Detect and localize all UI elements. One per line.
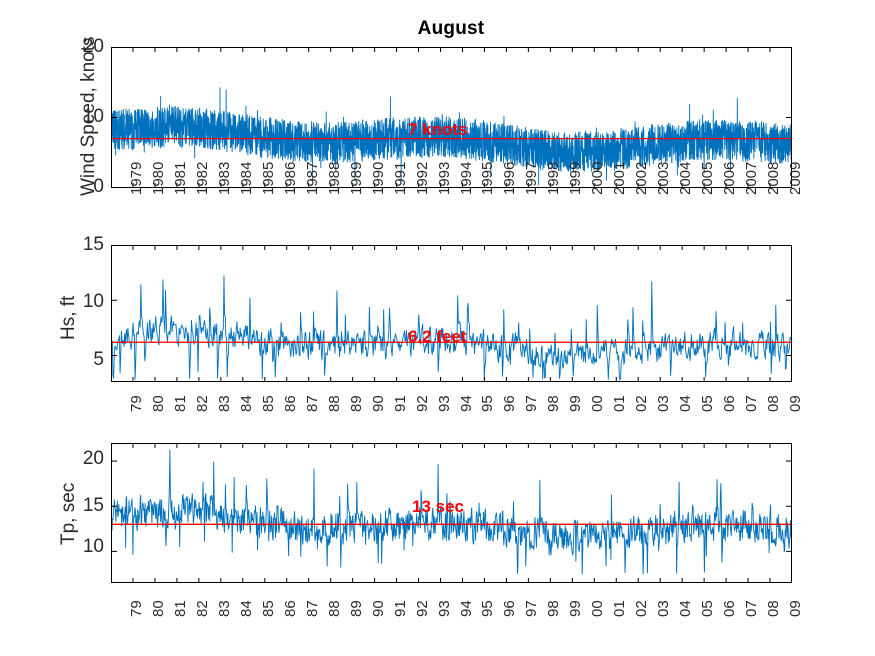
xtick-wind-1999: 1999 bbox=[567, 162, 584, 195]
ytick-tp-20: 20 bbox=[55, 448, 104, 470]
xtick-tp-03: 03 bbox=[655, 600, 672, 617]
xtick-hs-92: 92 bbox=[414, 395, 431, 412]
xtick-hs-02: 02 bbox=[633, 395, 650, 412]
xtick-hs-99: 99 bbox=[567, 395, 584, 412]
xtick-tp-00: 00 bbox=[589, 600, 606, 617]
xtick-hs-81: 81 bbox=[172, 395, 189, 412]
xtick-hs-91: 91 bbox=[392, 395, 409, 412]
xtick-tp-04: 04 bbox=[677, 600, 694, 617]
xtick-tp-06: 06 bbox=[721, 600, 738, 617]
xtick-wind-1989: 1989 bbox=[348, 162, 365, 195]
xtick-hs-94: 94 bbox=[458, 395, 475, 412]
xtick-hs-79: 79 bbox=[128, 395, 145, 412]
xtick-tp-08: 08 bbox=[765, 600, 782, 617]
xtick-wind-1981: 1981 bbox=[172, 162, 189, 195]
xtick-tp-88: 88 bbox=[326, 600, 343, 617]
annotation-wind-mean: 7 knots bbox=[408, 120, 468, 140]
xtick-tp-97: 97 bbox=[523, 600, 540, 617]
xtick-wind-1993: 1993 bbox=[436, 162, 453, 195]
xtick-tp-80: 80 bbox=[150, 600, 167, 617]
xtick-tp-84: 84 bbox=[238, 600, 255, 617]
xtick-hs-80: 80 bbox=[150, 395, 167, 412]
xtick-tp-83: 83 bbox=[216, 600, 233, 617]
ytick-tp-15: 15 bbox=[55, 495, 104, 517]
xtick-wind-1982: 1982 bbox=[194, 162, 211, 195]
chart-panel-hs[interactable] bbox=[111, 245, 792, 382]
xtick-wind-1984: 1984 bbox=[238, 162, 255, 195]
xtick-wind-2002: 2002 bbox=[633, 162, 650, 195]
xtick-tp-09: 09 bbox=[787, 600, 804, 617]
xtick-wind-1987: 1987 bbox=[304, 162, 321, 195]
xtick-wind-2005: 2005 bbox=[699, 162, 716, 195]
xtick-wind-1995: 1995 bbox=[479, 162, 496, 195]
xtick-hs-85: 85 bbox=[260, 395, 277, 412]
xtick-wind-1991: 1991 bbox=[392, 162, 409, 195]
xtick-wind-2006: 2006 bbox=[721, 162, 738, 195]
annotation-hs-mean: 6.2 feet bbox=[408, 327, 467, 347]
xtick-hs-82: 82 bbox=[194, 395, 211, 412]
xtick-wind-1980: 1980 bbox=[150, 162, 167, 195]
annotation-tp-mean: 13 sec bbox=[412, 497, 464, 517]
xtick-tp-89: 89 bbox=[348, 600, 365, 617]
xtick-wind-1986: 1986 bbox=[282, 162, 299, 195]
xtick-tp-93: 93 bbox=[436, 600, 453, 617]
xtick-tp-85: 85 bbox=[260, 600, 277, 617]
xtick-wind-1997: 1997 bbox=[523, 162, 540, 195]
ytick-wind-0: 0 bbox=[60, 176, 104, 198]
hs-plot-area bbox=[111, 245, 792, 382]
xtick-hs-06: 06 bbox=[721, 395, 738, 412]
xtick-hs-09: 09 bbox=[787, 395, 804, 412]
xtick-hs-89: 89 bbox=[348, 395, 365, 412]
xtick-hs-05: 05 bbox=[699, 395, 716, 412]
xtick-wind-2001: 2001 bbox=[611, 162, 628, 195]
xtick-hs-87: 87 bbox=[304, 395, 321, 412]
xtick-hs-03: 03 bbox=[655, 395, 672, 412]
xtick-hs-84: 84 bbox=[238, 395, 255, 412]
xtick-tp-94: 94 bbox=[458, 600, 475, 617]
xtick-tp-79: 79 bbox=[128, 600, 145, 617]
xtick-tp-96: 96 bbox=[501, 600, 518, 617]
xtick-hs-83: 83 bbox=[216, 395, 233, 412]
xtick-hs-04: 04 bbox=[677, 395, 694, 412]
xtick-tp-99: 99 bbox=[567, 600, 584, 617]
ytick-hs-5: 5 bbox=[60, 349, 104, 371]
ytick-wind-10: 10 bbox=[60, 106, 104, 128]
xtick-wind-1996: 1996 bbox=[501, 162, 518, 195]
xtick-hs-97: 97 bbox=[523, 395, 540, 412]
xtick-wind-1988: 1988 bbox=[326, 162, 343, 195]
xtick-tp-86: 86 bbox=[282, 600, 299, 617]
xtick-wind-2007: 2007 bbox=[743, 162, 760, 195]
ytick-wind-20: 20 bbox=[60, 36, 104, 58]
xtick-tp-95: 95 bbox=[479, 600, 496, 617]
xtick-hs-88: 88 bbox=[326, 395, 343, 412]
xtick-tp-05: 05 bbox=[699, 600, 716, 617]
xtick-tp-02: 02 bbox=[633, 600, 650, 617]
xtick-wind-2003: 2003 bbox=[655, 162, 672, 195]
xtick-wind-1998: 1998 bbox=[545, 162, 562, 195]
xtick-tp-07: 07 bbox=[743, 600, 760, 617]
xtick-hs-00: 00 bbox=[589, 395, 606, 412]
xtick-hs-07: 07 bbox=[743, 395, 760, 412]
xtick-hs-98: 98 bbox=[545, 395, 562, 412]
ytick-hs-10: 10 bbox=[60, 291, 104, 313]
xtick-hs-96: 96 bbox=[501, 395, 518, 412]
xtick-wind-1983: 1983 bbox=[216, 162, 233, 195]
xtick-tp-92: 92 bbox=[414, 600, 431, 617]
xtick-hs-86: 86 bbox=[282, 395, 299, 412]
xtick-wind-1992: 1992 bbox=[414, 162, 431, 195]
xtick-wind-1985: 1985 bbox=[260, 162, 277, 195]
xtick-wind-2008: 2008 bbox=[765, 162, 782, 195]
xtick-wind-1994: 1994 bbox=[458, 162, 475, 195]
page-title: August bbox=[110, 18, 792, 40]
xtick-tp-01: 01 bbox=[611, 600, 628, 617]
xtick-hs-90: 90 bbox=[370, 395, 387, 412]
xtick-wind-2009: 2009 bbox=[787, 162, 804, 195]
xtick-wind-2000: 2000 bbox=[589, 162, 606, 195]
xtick-tp-90: 90 bbox=[370, 600, 387, 617]
xtick-hs-95: 95 bbox=[479, 395, 496, 412]
xtick-hs-93: 93 bbox=[436, 395, 453, 412]
xtick-tp-81: 81 bbox=[172, 600, 189, 617]
xtick-wind-1979: 1979 bbox=[128, 162, 145, 195]
xtick-wind-2004: 2004 bbox=[677, 162, 694, 195]
xtick-tp-91: 91 bbox=[392, 600, 409, 617]
xtick-hs-01: 01 bbox=[611, 395, 628, 412]
ytick-hs-15: 15 bbox=[60, 234, 104, 256]
xtick-hs-08: 08 bbox=[765, 395, 782, 412]
xtick-tp-98: 98 bbox=[545, 600, 562, 617]
ytick-tp-10: 10 bbox=[55, 536, 104, 558]
xtick-tp-87: 87 bbox=[304, 600, 321, 617]
xtick-tp-82: 82 bbox=[194, 600, 211, 617]
figure-canvas: August Wind Speed, knots 20 10 0 7 knots… bbox=[0, 0, 875, 656]
xtick-wind-1990: 1990 bbox=[370, 162, 387, 195]
